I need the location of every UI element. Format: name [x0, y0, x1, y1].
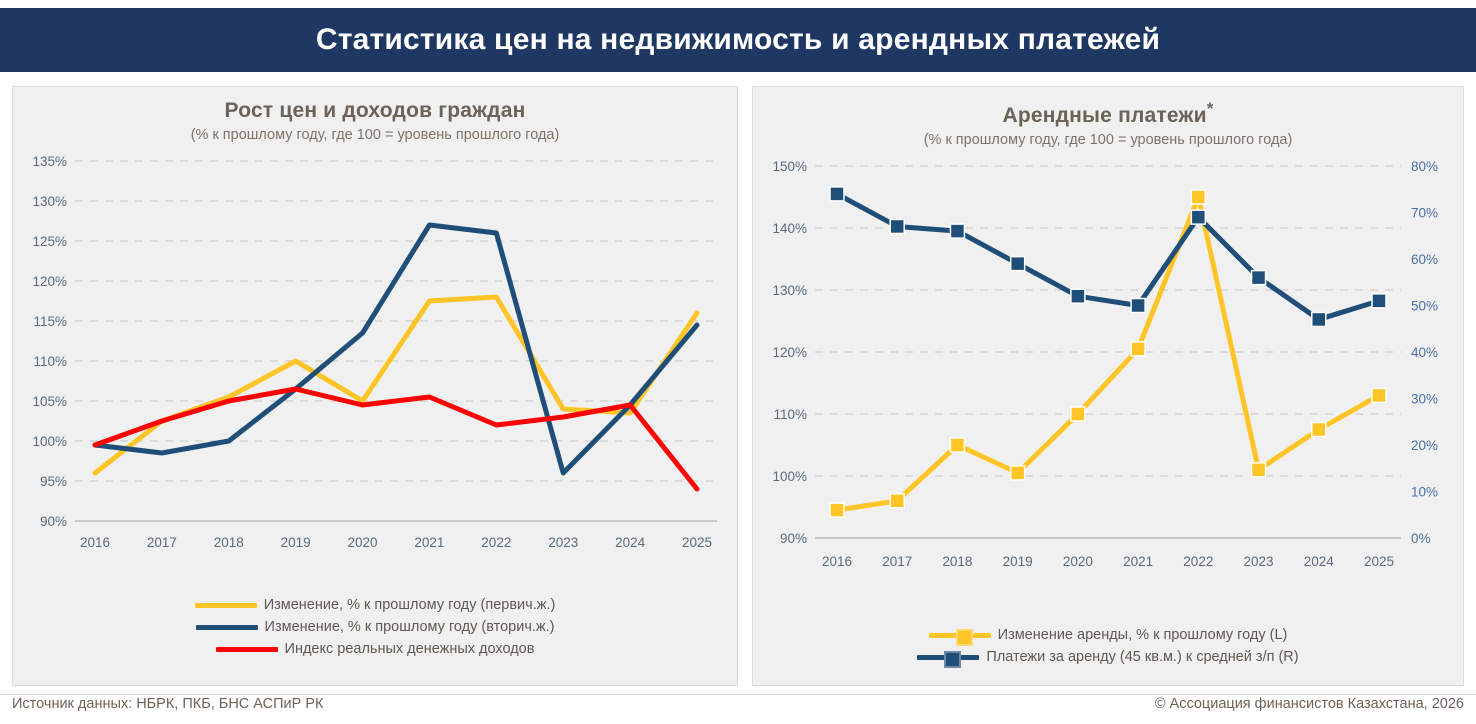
data-point-marker: [1131, 299, 1145, 313]
left-chart-title: Рост цен и доходов граждан: [13, 99, 737, 123]
right-chart-svg: 90%100%110%120%130%140%150%0%10%20%30%40…: [753, 148, 1463, 598]
y-axis-tick-label: 105%: [32, 394, 67, 409]
series-line: [837, 197, 1379, 510]
y-axis-right-tick-label: 0%: [1411, 531, 1431, 546]
x-axis-tick-label: 2021: [414, 535, 444, 550]
data-point-marker: [830, 503, 844, 517]
legend-item[interactable]: Изменение, % к прошлому году (вторич.ж.): [196, 619, 555, 635]
data-point-marker: [1252, 463, 1266, 477]
legend-item[interactable]: Платежи за аренду (45 кв.м.) к средней з…: [917, 649, 1298, 665]
data-point-marker: [1131, 342, 1145, 356]
y-axis-left-tick-label: 130%: [772, 283, 807, 298]
footer: Источник данных: НБРК, ПКБ, БНС АСПиР РК…: [0, 694, 1476, 724]
x-axis-tick-label: 2024: [615, 535, 646, 550]
right-chart-title: Арендные платежи*: [753, 99, 1463, 128]
x-axis-tick-label: 2017: [147, 535, 177, 550]
y-axis-tick-label: 110%: [33, 354, 67, 369]
data-point-marker: [1191, 190, 1205, 204]
legend-item[interactable]: Индекс реальных денежных доходов: [216, 641, 535, 657]
data-point-marker: [950, 438, 964, 452]
data-point-marker: [1372, 388, 1386, 402]
y-axis-left-tick-label: 150%: [772, 159, 807, 174]
legend-item-label: Платежи за аренду (45 кв.м.) к средней з…: [986, 649, 1298, 665]
x-axis-tick-label: 2016: [822, 554, 852, 569]
legend-item-label: Индекс реальных денежных доходов: [285, 641, 535, 657]
data-source-note: Источник данных: НБРК, ПКБ, БНС АСПиР РК: [12, 696, 323, 712]
x-axis-tick-label: 2024: [1304, 554, 1335, 569]
data-point-marker: [830, 187, 844, 201]
data-point-marker: [950, 224, 964, 238]
y-axis-tick-label: 100%: [32, 434, 67, 449]
data-point-marker: [890, 219, 904, 233]
data-point-marker: [1011, 257, 1025, 271]
left-chart-subtitle: (% к прошлому году, где 100 = уровень пр…: [13, 127, 737, 143]
legend-item[interactable]: Изменение аренды, % к прошлому году (L): [929, 627, 1288, 643]
right-chart-legend: Изменение аренды, % к прошлому году (L)П…: [753, 627, 1463, 665]
x-axis-tick-label: 2023: [548, 535, 578, 550]
data-point-marker: [1372, 294, 1386, 308]
y-axis-right-tick-label: 40%: [1411, 345, 1438, 360]
y-axis-left-tick-label: 140%: [772, 221, 807, 236]
legend-item-label: Изменение, % к прошлому году (вторич.ж.): [265, 619, 555, 635]
y-axis-left-tick-label: 110%: [773, 407, 807, 422]
y-axis-tick-label: 135%: [32, 154, 67, 169]
y-axis-left-tick-label: 120%: [772, 345, 807, 360]
x-axis-tick-label: 2019: [1003, 554, 1033, 569]
chart-panel-right: Арендные платежи* (% к прошлому году, гд…: [752, 86, 1464, 686]
legend-item[interactable]: Изменение, % к прошлому году (первич.ж.): [195, 597, 556, 613]
header-banner: Статистика цен на недвижимость и арендны…: [0, 8, 1476, 72]
y-axis-right-tick-label: 10%: [1411, 485, 1438, 500]
y-axis-right-tick-label: 30%: [1411, 392, 1438, 407]
right-chart-subtitle: (% к прошлому году, где 100 = уровень пр…: [753, 132, 1463, 148]
right-chart-title-text: Арендные платежи: [1002, 104, 1206, 127]
right-plot-area: 90%100%110%120%130%140%150%0%10%20%30%40…: [753, 148, 1463, 598]
data-point-marker: [1071, 289, 1085, 303]
y-axis-right-tick-label: 80%: [1411, 159, 1438, 174]
y-axis-left-tick-label: 100%: [772, 469, 807, 484]
y-axis-tick-label: 90%: [40, 514, 67, 529]
y-axis-tick-label: 125%: [32, 234, 67, 249]
page-title: Статистика цен на недвижимость и арендны…: [316, 23, 1160, 57]
left-chart-legend: Изменение, % к прошлому году (первич.ж.)…: [13, 597, 737, 657]
x-axis-tick-label: 2019: [281, 535, 311, 550]
x-axis-tick-label: 2018: [942, 554, 972, 569]
y-axis-tick-label: 115%: [33, 314, 67, 329]
x-axis-tick-label: 2022: [481, 535, 511, 550]
y-axis-tick-label: 120%: [32, 274, 67, 289]
x-axis-tick-label: 2017: [882, 554, 912, 569]
x-axis-tick-label: 2025: [1364, 554, 1394, 569]
y-axis-left-tick-label: 90%: [780, 531, 807, 546]
copyright-note: © Ассоциация финансистов Казахстана, 202…: [1155, 696, 1464, 712]
chart-panel-left: Рост цен и доходов граждан (% к прошлому…: [12, 86, 738, 686]
series-line: [837, 194, 1379, 320]
y-axis-right-tick-label: 20%: [1411, 438, 1438, 453]
data-point-marker: [1312, 423, 1326, 437]
x-axis-tick-label: 2023: [1244, 554, 1274, 569]
y-axis-right-tick-label: 60%: [1411, 252, 1438, 267]
y-axis-tick-label: 130%: [32, 194, 67, 209]
x-axis-tick-label: 2022: [1183, 554, 1213, 569]
x-axis-tick-label: 2021: [1123, 554, 1153, 569]
legend-color-swatch: [195, 603, 257, 608]
data-point-marker: [1071, 407, 1085, 421]
data-point-marker: [1252, 271, 1266, 285]
y-axis-right-tick-label: 50%: [1411, 299, 1438, 314]
legend-color-swatch: [917, 655, 979, 660]
legend-item-label: Изменение аренды, % к прошлому году (L): [998, 627, 1288, 643]
legend-color-swatch: [216, 647, 278, 652]
series-line: [95, 389, 697, 489]
data-point-marker: [1312, 312, 1326, 326]
x-axis-tick-label: 2020: [348, 535, 378, 550]
y-axis-tick-label: 95%: [40, 474, 67, 489]
y-axis-right-tick-label: 70%: [1411, 206, 1438, 221]
legend-color-swatch: [196, 625, 258, 630]
data-point-marker: [890, 494, 904, 508]
x-axis-tick-label: 2016: [80, 535, 110, 550]
left-plot-area: 90%95%100%105%110%115%120%125%130%135%20…: [13, 143, 737, 573]
data-point-marker: [1191, 210, 1205, 224]
legend-item-label: Изменение, % к прошлому году (первич.ж.): [264, 597, 556, 613]
x-axis-tick-label: 2025: [682, 535, 712, 550]
footer-divider: [0, 694, 1476, 695]
legend-color-swatch: [929, 633, 991, 638]
x-axis-tick-label: 2018: [214, 535, 244, 550]
page-root: Статистика цен на недвижимость и арендны…: [0, 0, 1476, 724]
footnote-asterisk: *: [1207, 99, 1214, 118]
data-point-marker: [1011, 466, 1025, 480]
x-axis-tick-label: 2020: [1063, 554, 1093, 569]
left-chart-svg: 90%95%100%105%110%115%120%125%130%135%20…: [13, 143, 737, 573]
